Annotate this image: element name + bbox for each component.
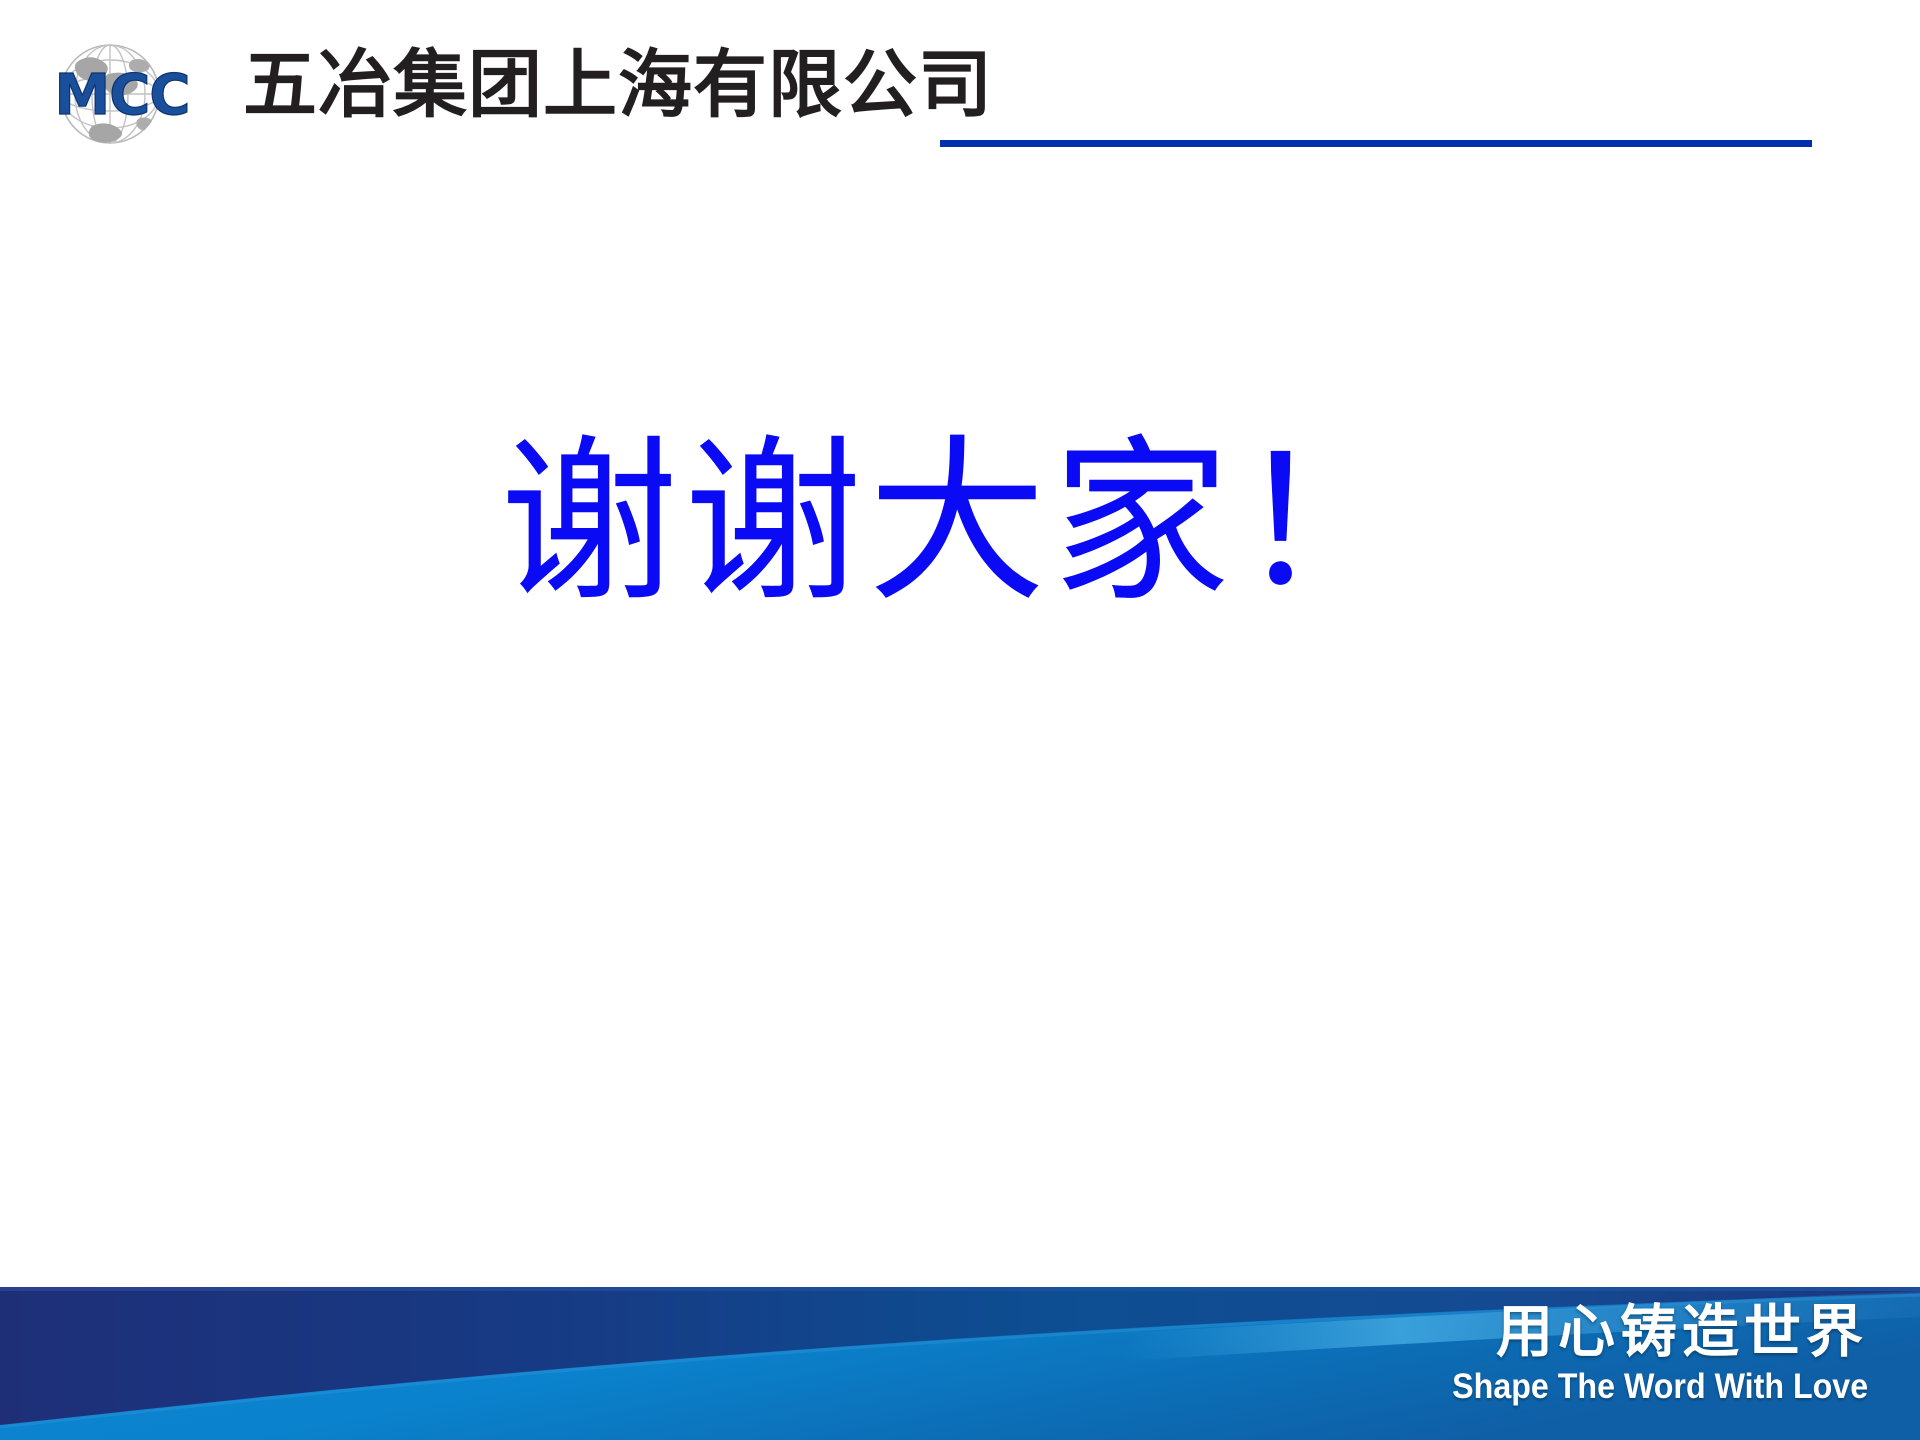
slide-body: 谢谢大家！ <box>0 180 1920 1287</box>
title-underline <box>940 140 1812 147</box>
slide-header: MCC 五冶集团上海有限公司 <box>0 0 1920 180</box>
slide-footer-banner: 用心铸造世界 Shape The Word With Love <box>0 1287 1920 1440</box>
mcc-globe-logo: MCC <box>22 38 222 150</box>
page-title: 五冶集团上海有限公司 <box>243 48 993 122</box>
mcc-logo-icon: MCC <box>22 38 222 150</box>
slogan-chinese: 用心铸造世界 <box>1416 1301 1868 1365</box>
thanks-line: 谢谢大家！ <box>0 430 1920 617</box>
svg-text:MCC: MCC <box>55 63 190 128</box>
slide-canvas: MCC 五冶集团上海有限公司 谢谢大家！ <box>0 0 1920 1440</box>
thanks-text: 谢谢大家！ <box>500 430 1420 617</box>
slogan-english: Shape The Word With Love <box>1452 1369 1868 1404</box>
company-slogan: 用心铸造世界 Shape The Word With Love <box>1416 1301 1868 1404</box>
mcc-wordmark: MCC <box>55 63 190 128</box>
